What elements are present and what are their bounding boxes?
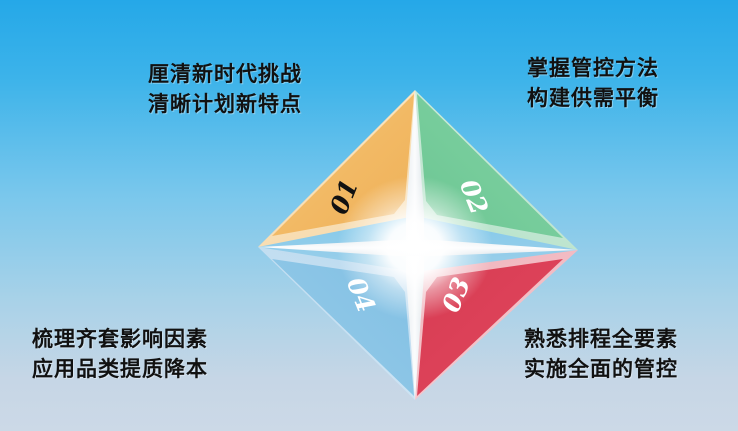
caption-segment-01: 厘清新时代挑战 清晰计划新特点 [148, 60, 302, 120]
caption-03-line-1: 熟悉排程全要素 [524, 325, 678, 355]
caption-02-line-2: 构建供需平衡 [527, 84, 659, 114]
caption-04-line-2: 应用品类提质降本 [32, 355, 208, 385]
caption-segment-02: 掌握管控方法 构建供需平衡 [527, 54, 659, 114]
caption-segment-03: 熟悉排程全要素 实施全面的管控 [524, 325, 678, 385]
caption-01-line-1: 厘清新时代挑战 [148, 60, 302, 90]
caption-01-line-2: 清晰计划新特点 [148, 90, 302, 120]
caption-02-line-1: 掌握管控方法 [527, 54, 659, 84]
caption-segment-04: 梳理齐套影响因素 应用品类提质降本 [32, 325, 208, 385]
caption-04-line-1: 梳理齐套影响因素 [32, 325, 208, 355]
diagram-canvas: 01 02 03 04 厘清新时代挑战 清晰计划新特点 掌握管控方法 构建供需平… [0, 0, 738, 431]
caption-03-line-2: 实施全面的管控 [524, 355, 678, 385]
